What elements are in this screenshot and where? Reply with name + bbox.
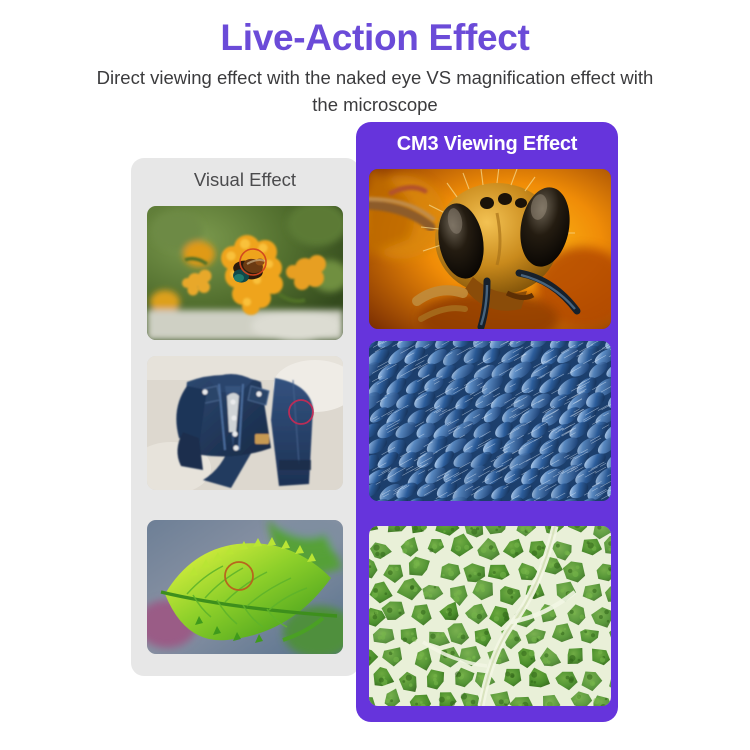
visual-effect-photo-bee-on-flower [147, 206, 343, 340]
leaf-venation-macro-illustration [369, 526, 611, 706]
cm3-viewing-effect-panel: CM3 Viewing Effect [356, 122, 618, 722]
visual-effect-panel-title: Visual Effect [131, 169, 359, 191]
bee-head-macro-illustration [369, 169, 611, 329]
cm3-viewing-effect-panel-title: CM3 Viewing Effect [356, 133, 618, 156]
bee-on-flower-illustration [147, 206, 343, 340]
denim-weave-macro-illustration [369, 341, 611, 501]
cm3-photo-denim-weave-macro [369, 341, 611, 501]
denim-garments-illustration [147, 356, 343, 490]
green-leaf-illustration [147, 520, 343, 654]
cm3-photo-bee-head-macro [369, 169, 611, 329]
visual-effect-panel: Visual Effect [131, 158, 359, 676]
cm3-photo-leaf-venation-macro [369, 526, 611, 706]
visual-effect-photo-denim-garments [147, 356, 343, 490]
visual-effect-photo-green-leaf [147, 520, 343, 654]
comparison-section: Visual Effect [0, 0, 750, 750]
